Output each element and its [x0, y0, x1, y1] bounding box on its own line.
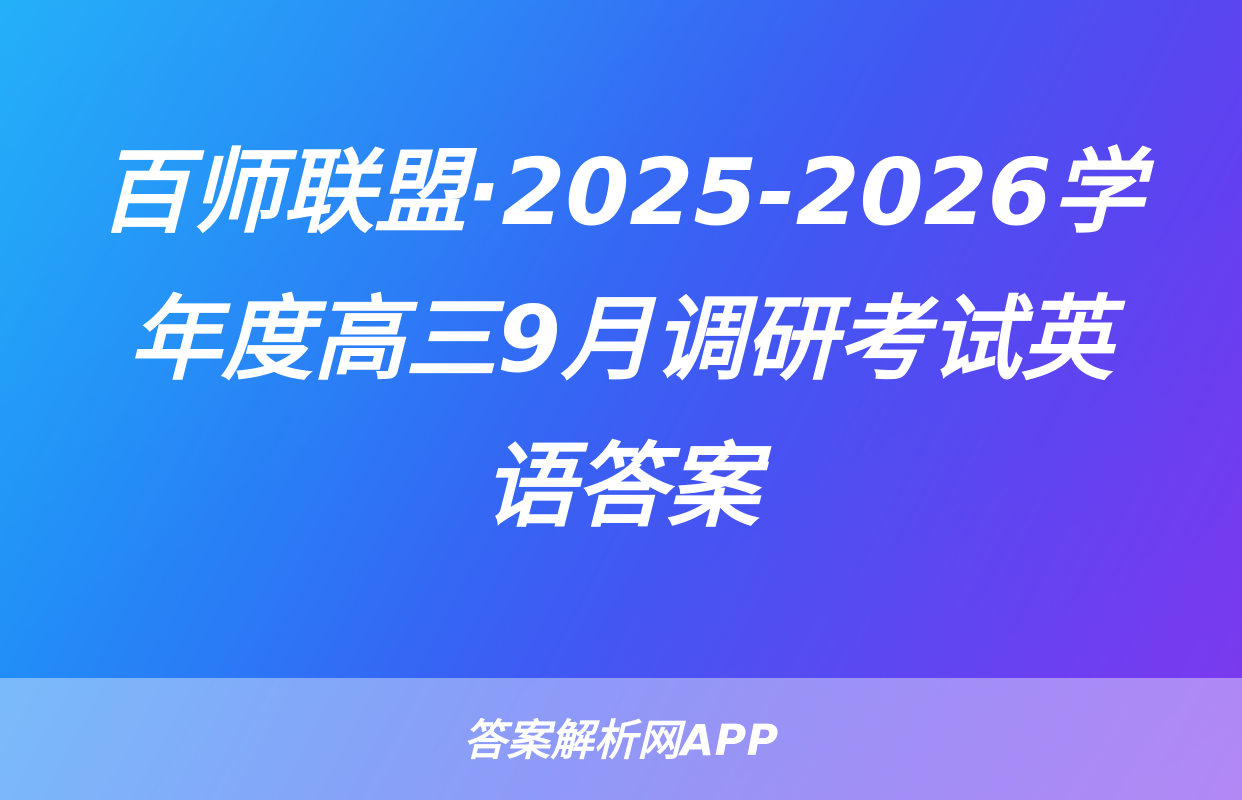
poster-canvas: 百师联盟·2025-2026学年度高三9月调研考试英语答案 答案解析网APP: [0, 0, 1242, 800]
title-container: 百师联盟·2025-2026学年度高三9月调研考试英语答案: [0, 0, 1242, 678]
footer-watermark-band: 答案解析网APP: [0, 678, 1242, 800]
footer-watermark-label: 答案解析网APP: [463, 720, 778, 763]
page-title: 百师联盟·2025-2026学年度高三9月调研考试英语答案: [98, 119, 1144, 560]
